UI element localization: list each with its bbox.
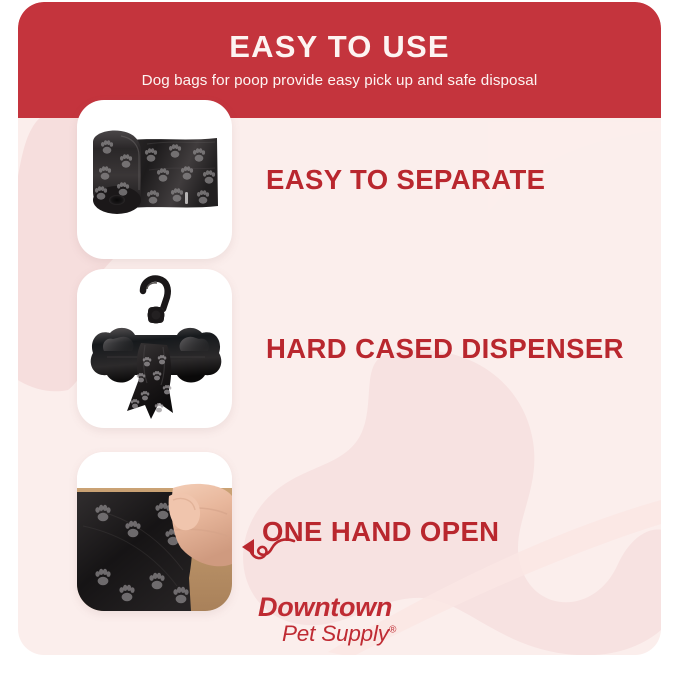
brand-line-2-text: Pet Supply	[282, 621, 389, 646]
brand-line-1: Downtown	[258, 594, 488, 621]
feature-row-2: HARD CASED DISPENSER	[77, 269, 624, 428]
infographic-canvas: EASY TO USE Dog bags for poop provide ea…	[0, 0, 679, 679]
brand-line-2: Pet Supply®	[282, 623, 488, 646]
curly-arrow-pointing-left-icon	[236, 527, 298, 567]
black-bone-shaped-bag-dispenser-with-clip-image	[77, 269, 232, 428]
feature-label-2: HARD CASED DISPENSER	[266, 333, 624, 365]
hand-pulling-black-paw-print-bag-image	[77, 452, 232, 611]
brand-logo: Downtown Pet Supply®	[258, 594, 488, 646]
page-subtitle: Dog bags for poop provide easy pick up a…	[142, 72, 538, 89]
feature-image-card-1	[77, 100, 232, 259]
registered-mark: ®	[389, 625, 396, 636]
feature-row-1: EASY TO SEPARATE	[77, 100, 545, 259]
feature-image-card-2	[77, 269, 232, 428]
roll-of-black-paw-print-poop-bags-image	[77, 100, 232, 259]
page-title: EASY TO USE	[229, 31, 450, 64]
feature-label-1: EASY TO SEPARATE	[266, 164, 545, 196]
feature-image-card-3	[77, 452, 232, 611]
